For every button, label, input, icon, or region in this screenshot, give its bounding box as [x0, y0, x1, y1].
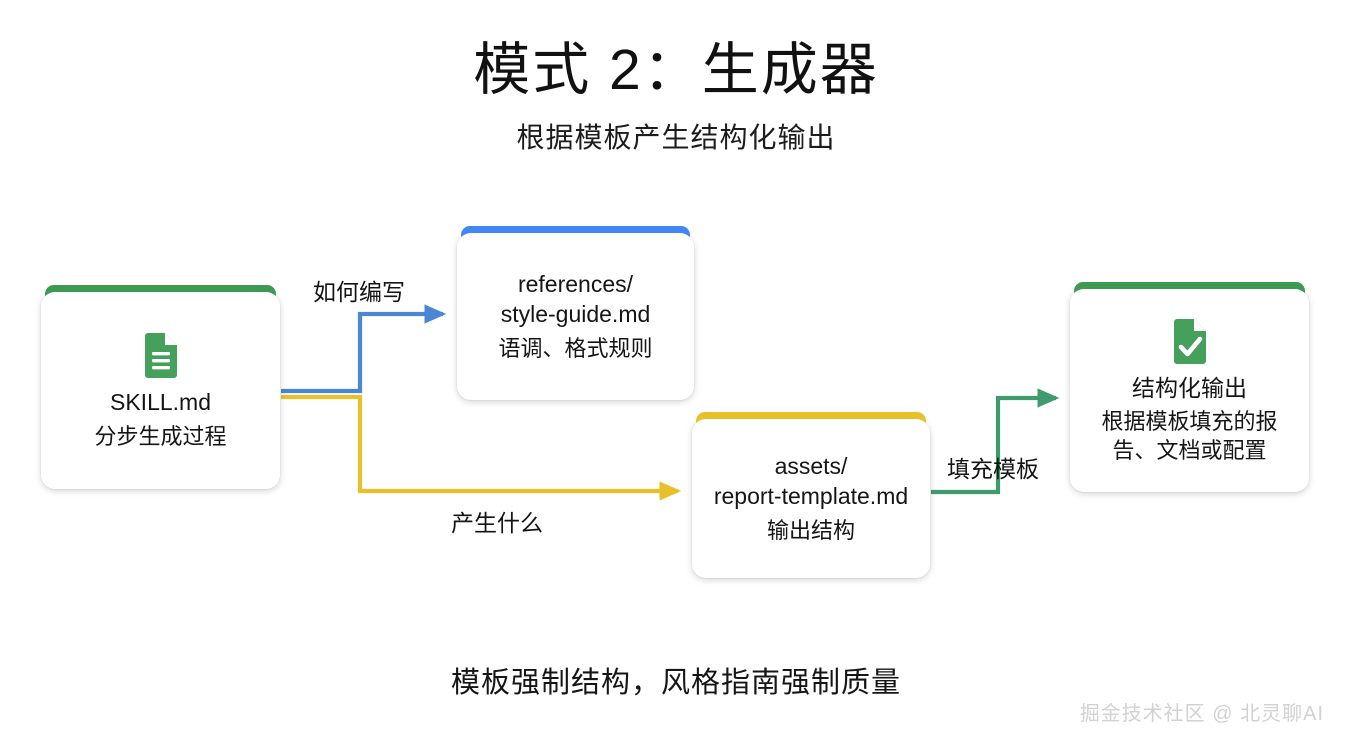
- node-skill-md-title: SKILL.md: [110, 388, 211, 418]
- edge-label-fill-template: 填充模板: [947, 450, 1039, 484]
- watermark: 掘金技术社区 @ 北灵聊AI: [1080, 697, 1324, 726]
- edge-label-how-to-write: 如何编写: [313, 273, 405, 307]
- node-style-guide-md-title: references/ style-guide.md: [501, 270, 651, 330]
- node-report-template-md-subtitle: 输出结构: [767, 516, 855, 545]
- node-report-template-md-body: assets/ report-template.md 输出结构: [692, 419, 930, 578]
- document-lines-icon: [141, 330, 181, 378]
- document-check-icon: [1170, 316, 1210, 364]
- edge-produces-what: [281, 397, 678, 491]
- node-structured-output[interactable]: 结构化输出 根据模板填充的报 告、文档或配置: [1070, 289, 1309, 492]
- node-skill-md-body: SKILL.md 分步生成过程: [41, 292, 280, 489]
- edge-label-produces-what: 产生什么: [451, 504, 543, 538]
- node-skill-md-subtitle: 分步生成过程: [94, 422, 226, 451]
- footer-note: 模板强制结构，风格指南强制质量: [0, 659, 1352, 701]
- node-structured-output-title: 结构化输出: [1132, 374, 1247, 404]
- node-report-template-md[interactable]: assets/ report-template.md 输出结构: [692, 419, 930, 578]
- node-style-guide-md-body: references/ style-guide.md 语调、格式规则: [457, 233, 694, 400]
- edge-how-to-write: [281, 314, 443, 391]
- node-skill-md[interactable]: SKILL.md 分步生成过程: [41, 292, 280, 489]
- node-style-guide-md-subtitle: 语调、格式规则: [498, 334, 652, 363]
- diagram-canvas: SKILL.md 分步生成过程 references/ style-guide.…: [0, 0, 1352, 744]
- node-style-guide-md[interactable]: references/ style-guide.md 语调、格式规则: [457, 233, 694, 400]
- node-structured-output-body: 结构化输出 根据模板填充的报 告、文档或配置: [1070, 289, 1309, 492]
- node-structured-output-subtitle: 根据模板填充的报 告、文档或配置: [1101, 407, 1277, 465]
- node-report-template-md-title: assets/ report-template.md: [714, 452, 908, 512]
